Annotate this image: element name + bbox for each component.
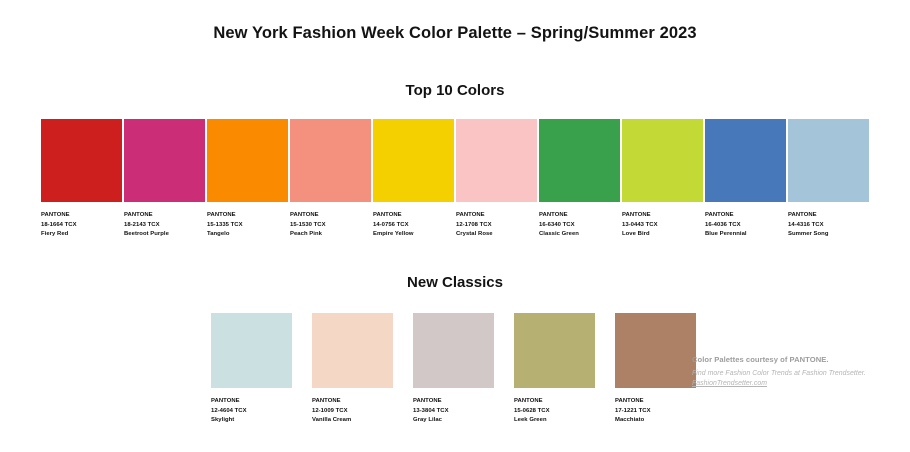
swatch-cell[interactable]: PANTONE12-1708 TCXCrystal Rose	[456, 119, 537, 240]
swatch-label: PANTONE16-6340 TCXClassic Green	[539, 211, 620, 240]
section-heading-new-classics: New Classics	[0, 274, 910, 291]
swatch-code: 15-0628 TCX	[514, 407, 595, 417]
swatch-cell[interactable]: PANTONE15-1530 TCXPeach Pink	[290, 119, 371, 240]
color-swatch[interactable]	[373, 119, 454, 202]
color-swatch[interactable]	[124, 119, 205, 202]
color-swatch[interactable]	[41, 119, 122, 202]
swatch-code: 17-1221 TCX	[615, 407, 696, 417]
swatch-name: Summer Song	[788, 230, 869, 240]
color-swatch[interactable]	[413, 313, 494, 388]
swatch-name: Vanilla Cream	[312, 416, 393, 426]
color-swatch[interactable]	[788, 119, 869, 202]
swatch-code: 14-0756 TCX	[373, 221, 454, 231]
swatch-label: PANTONE18-1664 TCXFiery Red	[41, 211, 122, 240]
swatch-code: 18-1664 TCX	[41, 221, 122, 231]
swatch-name: Love Bird	[622, 230, 703, 240]
swatch-brand: PANTONE	[290, 211, 371, 221]
color-swatch[interactable]	[514, 313, 595, 388]
swatch-brand: PANTONE	[373, 211, 454, 221]
swatch-label: PANTONE15-1335 TCXTangelo	[207, 211, 288, 240]
swatch-label: PANTONE13-3804 TCXGray Lilac	[413, 397, 494, 426]
swatch-cell[interactable]: PANTONE15-1335 TCXTangelo	[207, 119, 288, 240]
swatch-code: 13-0443 TCX	[622, 221, 703, 231]
swatch-label: PANTONE12-1708 TCXCrystal Rose	[456, 211, 537, 240]
swatch-code: 16-4036 TCX	[705, 221, 786, 231]
swatch-code: 12-4604 TCX	[211, 407, 292, 417]
swatch-label: PANTONE16-4036 TCXBlue Perennial	[705, 211, 786, 240]
credit-subtext: Find more Fashion Color Trends at Fashio…	[692, 369, 902, 380]
color-swatch[interactable]	[705, 119, 786, 202]
color-swatch[interactable]	[211, 313, 292, 388]
swatch-code: 15-1335 TCX	[207, 221, 288, 231]
credit-block: Color Palettes courtesy of PANTONE. Find…	[692, 354, 902, 387]
swatch-cell[interactable]: PANTONE17-1221 TCXMacchiato	[615, 313, 696, 426]
swatch-name: Fiery Red	[41, 230, 122, 240]
swatch-name: Gray Lilac	[413, 416, 494, 426]
swatch-brand: PANTONE	[413, 397, 494, 407]
color-swatch[interactable]	[539, 119, 620, 202]
swatch-brand: PANTONE	[705, 211, 786, 221]
swatch-name: Macchiato	[615, 416, 696, 426]
swatch-name: Classic Green	[539, 230, 620, 240]
color-swatch[interactable]	[615, 313, 696, 388]
swatch-name: Tangelo	[207, 230, 288, 240]
color-swatch[interactable]	[312, 313, 393, 388]
swatch-brand: PANTONE	[41, 211, 122, 221]
color-swatch[interactable]	[290, 119, 371, 202]
swatch-brand: PANTONE	[312, 397, 393, 407]
swatch-code: 15-1530 TCX	[290, 221, 371, 231]
swatch-name: Empire Yellow	[373, 230, 454, 240]
swatch-brand: PANTONE	[514, 397, 595, 407]
swatch-label: PANTONE12-1009 TCXVanilla Cream	[312, 397, 393, 426]
swatch-brand: PANTONE	[622, 211, 703, 221]
swatch-cell[interactable]: PANTONE13-0443 TCXLove Bird	[622, 119, 703, 240]
swatch-brand: PANTONE	[211, 397, 292, 407]
credit-courtesy-text: Color Palettes courtesy of PANTONE.	[692, 354, 902, 365]
color-swatch[interactable]	[456, 119, 537, 202]
credit-link[interactable]: FashionTrendsetter.com	[692, 380, 902, 387]
swatch-cell[interactable]: PANTONE14-0756 TCXEmpire Yellow	[373, 119, 454, 240]
swatch-label: PANTONE13-0443 TCXLove Bird	[622, 211, 703, 240]
swatch-cell[interactable]: PANTONE16-6340 TCXClassic Green	[539, 119, 620, 240]
swatch-label: PANTONE14-0756 TCXEmpire Yellow	[373, 211, 454, 240]
swatch-label: PANTONE15-0628 TCXLeek Green	[514, 397, 595, 426]
swatch-code: 14-4316 TCX	[788, 221, 869, 231]
swatch-name: Leek Green	[514, 416, 595, 426]
swatch-brand: PANTONE	[124, 211, 205, 221]
swatch-label: PANTONE12-4604 TCXSkylight	[211, 397, 292, 426]
swatch-cell[interactable]: PANTONE18-2143 TCXBeetroot Purple	[124, 119, 205, 240]
swatch-label: PANTONE17-1221 TCXMacchiato	[615, 397, 696, 426]
color-swatch[interactable]	[622, 119, 703, 202]
swatch-cell[interactable]: PANTONE12-1009 TCXVanilla Cream	[312, 313, 393, 426]
swatch-code: 12-1009 TCX	[312, 407, 393, 417]
swatch-brand: PANTONE	[788, 211, 869, 221]
swatch-code: 13-3804 TCX	[413, 407, 494, 417]
color-swatch[interactable]	[207, 119, 288, 202]
page-title: New York Fashion Week Color Palette – Sp…	[0, 24, 910, 43]
swatch-cell[interactable]: PANTONE14-4316 TCXSummer Song	[788, 119, 869, 240]
swatch-brand: PANTONE	[456, 211, 537, 221]
swatch-label: PANTONE14-4316 TCXSummer Song	[788, 211, 869, 240]
swatch-label: PANTONE15-1530 TCXPeach Pink	[290, 211, 371, 240]
swatch-name: Blue Perennial	[705, 230, 786, 240]
swatch-cell[interactable]: PANTONE16-4036 TCXBlue Perennial	[705, 119, 786, 240]
swatch-name: Beetroot Purple	[124, 230, 205, 240]
swatch-code: 18-2143 TCX	[124, 221, 205, 231]
swatch-cell[interactable]: PANTONE12-4604 TCXSkylight	[211, 313, 292, 426]
swatch-brand: PANTONE	[615, 397, 696, 407]
swatch-code: 12-1708 TCX	[456, 221, 537, 231]
swatch-label: PANTONE18-2143 TCXBeetroot Purple	[124, 211, 205, 240]
swatch-name: Crystal Rose	[456, 230, 537, 240]
swatch-cell[interactable]: PANTONE18-1664 TCXFiery Red	[41, 119, 122, 240]
swatch-cell[interactable]: PANTONE13-3804 TCXGray Lilac	[413, 313, 494, 426]
swatch-brand: PANTONE	[539, 211, 620, 221]
swatch-cell[interactable]: PANTONE15-0628 TCXLeek Green	[514, 313, 595, 426]
section-heading-top-10: Top 10 Colors	[0, 82, 910, 99]
swatch-name: Skylight	[211, 416, 292, 426]
swatch-row-top-10: PANTONE18-1664 TCXFiery RedPANTONE18-214…	[41, 119, 869, 240]
swatch-row-new-classics: PANTONE12-4604 TCXSkylightPANTONE12-1009…	[211, 313, 699, 426]
swatch-brand: PANTONE	[207, 211, 288, 221]
swatch-name: Peach Pink	[290, 230, 371, 240]
swatch-code: 16-6340 TCX	[539, 221, 620, 231]
